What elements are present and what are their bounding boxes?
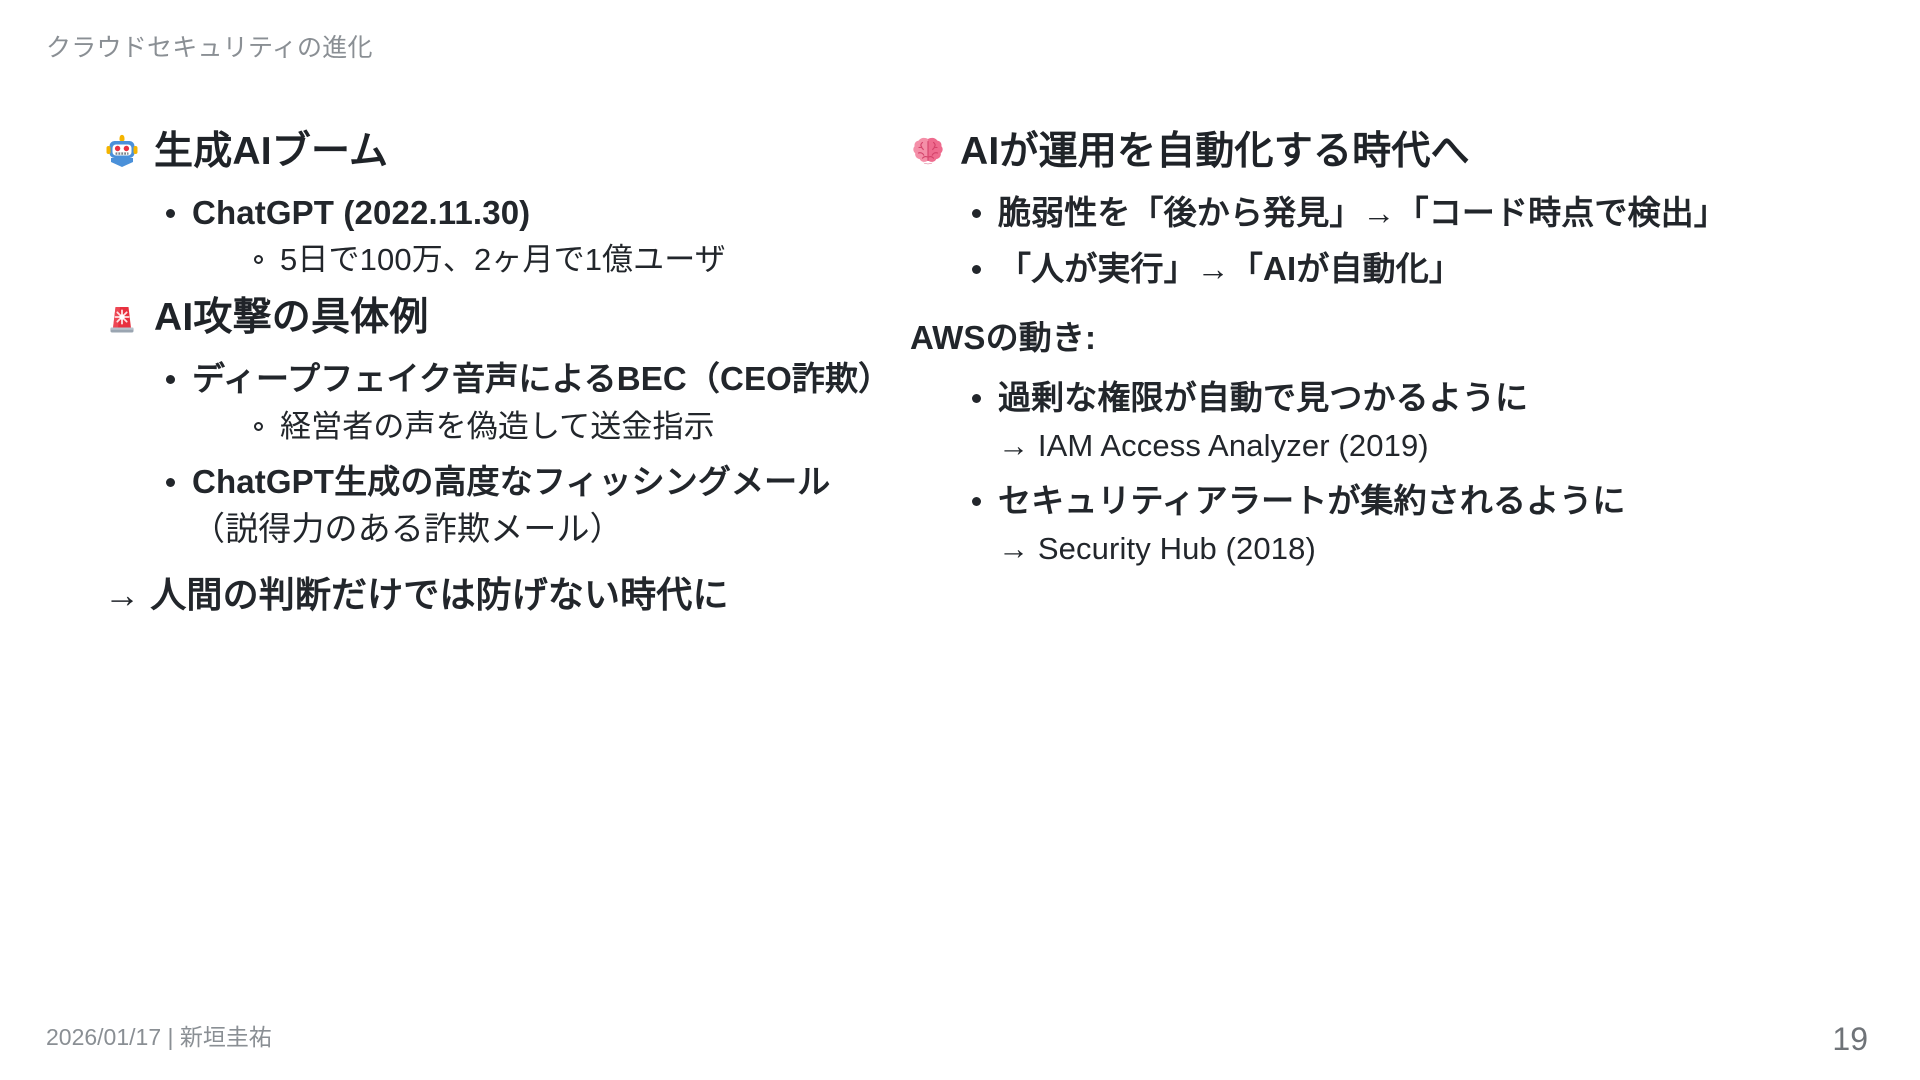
bullet-item: ChatGPT生成の高度なフィッシングメール（説得力のある詐欺メール） bbox=[160, 459, 880, 553]
bullet-text: ディープフェイク音声によるBEC（CEO詐欺） bbox=[192, 360, 891, 397]
bullet-text: 過剰な権限が自動で見つかるように bbox=[998, 379, 1528, 416]
sub-bullet-list: 5日で100万、2ヶ月で1億ユーザ bbox=[192, 238, 880, 282]
slide-body: 生成AIブーム ChatGPT (2022.11.30) 5日で100万、2ヶ月… bbox=[0, 128, 1920, 619]
bullet-item: 脆弱性を「後から発見」→「コード時点で検出」 bbox=[966, 190, 1860, 237]
bullet-note: → Security Hub (2018) bbox=[998, 527, 1860, 570]
bullet-list-ai-automation: 脆弱性を「後から発見」→「コード時点で検出」 「人が実行」→「AIが自動化」 bbox=[910, 190, 1860, 294]
section-heading-ai-attacks: AI攻撃の具体例 bbox=[104, 294, 880, 342]
bullet-item: 「人が実行」→「AIが自動化」 bbox=[966, 246, 1860, 293]
aws-movement-label: AWSの動き: bbox=[910, 315, 1860, 361]
bullet-item: セキュリティアラートが集約されるように → Security Hub (2018… bbox=[966, 478, 1860, 570]
bullet-list-ai-boom: ChatGPT (2022.11.30) 5日で100万、2ヶ月で1億ユーザ bbox=[104, 190, 880, 283]
section-heading-label: AIが運用を自動化する時代へ bbox=[960, 128, 1860, 176]
section-heading-ai-automation: AIが運用を自動化する時代へ bbox=[910, 128, 1860, 176]
right-column: AIが運用を自動化する時代へ 脆弱性を「後から発見」→「コード時点で検出」 「人… bbox=[900, 128, 1920, 582]
left-column: 生成AIブーム ChatGPT (2022.11.30) 5日で100万、2ヶ月… bbox=[0, 128, 900, 619]
bullet-text: セキュリティアラートが集約されるように bbox=[998, 482, 1626, 519]
bullet-item: ChatGPT (2022.11.30) 5日で100万、2ヶ月で1億ユーザ bbox=[160, 190, 880, 283]
bullet-text: ChatGPT (2022.11.30) bbox=[192, 194, 530, 231]
left-column-conclusion: → 人間の判断だけでは防げない時代に bbox=[104, 571, 880, 620]
page-number: 19 bbox=[1832, 1021, 1868, 1058]
bullet-item: ディープフェイク音声によるBEC（CEO詐欺） 経営者の声を偽造して送金指示 bbox=[160, 356, 880, 449]
sub-bullet-item: 経営者の声を偽造して送金指示 bbox=[250, 405, 880, 449]
sub-bullet-item: 5日で100万、2ヶ月で1億ユーザ bbox=[250, 238, 880, 282]
bullet-text-bold: ChatGPT生成の高度なフィッシングメール bbox=[192, 463, 830, 500]
slide-header-title: クラウドセキュリティの進化 bbox=[46, 28, 373, 64]
brain-emoji-icon bbox=[910, 134, 946, 170]
slide-root: クラウドセキュリティの進化 bbox=[0, 0, 1920, 1080]
footer-meta: 2026/01/17 | 新垣圭祐 bbox=[46, 1018, 272, 1052]
section-heading-label: 生成AIブーム bbox=[154, 128, 880, 176]
bullet-note: → IAM Access Analyzer (2019) bbox=[998, 424, 1860, 467]
sub-bullet-list: 経営者の声を偽造して送金指示 bbox=[192, 405, 880, 449]
bullet-item: 過剰な権限が自動で見つかるように → IAM Access Analyzer (… bbox=[966, 375, 1860, 467]
robot-emoji-icon bbox=[104, 134, 140, 170]
section-heading-ai-boom: 生成AIブーム bbox=[104, 128, 880, 176]
bullet-list-ai-attacks: ディープフェイク音声によるBEC（CEO詐欺） 経営者の声を偽造して送金指示 C… bbox=[104, 356, 880, 553]
section-heading-label: AI攻撃の具体例 bbox=[154, 294, 880, 342]
bullet-list-aws: 過剰な権限が自動で見つかるように → IAM Access Analyzer (… bbox=[910, 375, 1860, 570]
bullet-text-thin: （説得力のある詐欺メール） bbox=[192, 510, 623, 547]
police-light-emoji-icon bbox=[104, 300, 140, 336]
